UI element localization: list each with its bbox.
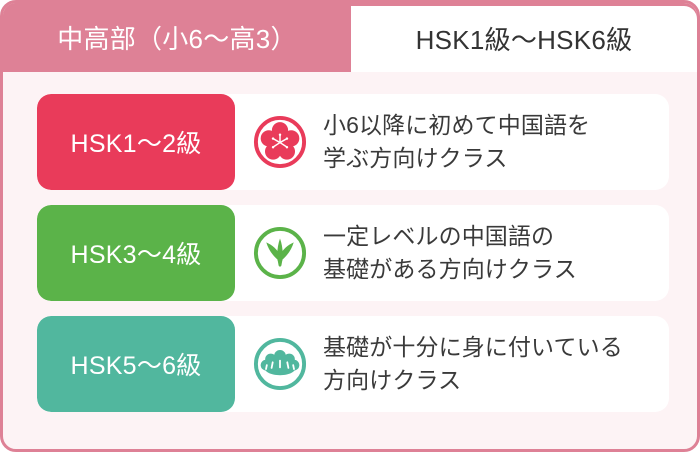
pine-tree-icon: [251, 335, 309, 393]
level-label: HSK1〜2級: [71, 124, 202, 160]
level-description: 一定レベルの中国語の 基礎がある方向けクラス: [309, 220, 577, 285]
header-department-label: 中高部（小6〜高3）: [57, 19, 297, 56]
plum-blossom-icon: [251, 113, 309, 171]
bamboo-icon: [251, 224, 309, 282]
header-tab-department: 中高部（小6〜高3）: [3, 3, 351, 72]
hsk-course-level-panel: 中高部（小6〜高3） HSK1級〜HSK6級 HSK1〜2級: [0, 0, 700, 452]
level-pill-hsk1-2: HSK1〜2級: [37, 94, 235, 190]
list-item: HSK3〜4級 一定レベルの中国語の 基礎がある方向けクラス: [37, 205, 669, 301]
level-detail: 基礎が十分に身に付いている 方向けクラス: [235, 316, 669, 412]
level-pill-hsk3-4: HSK3〜4級: [37, 205, 235, 301]
level-pill-hsk5-6: HSK5〜6級: [37, 316, 235, 412]
level-detail: 小6以降に初めて中国語を 学ぶ方向けクラス: [235, 94, 669, 190]
level-label: HSK3〜4級: [71, 235, 202, 271]
level-detail: 一定レベルの中国語の 基礎がある方向けクラス: [235, 205, 669, 301]
level-description: 小6以降に初めて中国語を 学ぶ方向けクラス: [309, 109, 590, 174]
level-label: HSK5〜6級: [71, 346, 202, 382]
header-hsk-range-label: HSK1級〜HSK6級: [416, 20, 633, 57]
level-row-list: HSK1〜2級: [3, 72, 697, 449]
panel-header: 中高部（小6〜高3） HSK1級〜HSK6級: [3, 3, 697, 72]
header-tab-hsk-range: HSK1級〜HSK6級: [351, 6, 697, 72]
list-item: HSK1〜2級: [37, 94, 669, 190]
list-item: HSK5〜6級: [37, 316, 669, 412]
level-description: 基礎が十分に身に付いている 方向けクラス: [309, 331, 623, 396]
